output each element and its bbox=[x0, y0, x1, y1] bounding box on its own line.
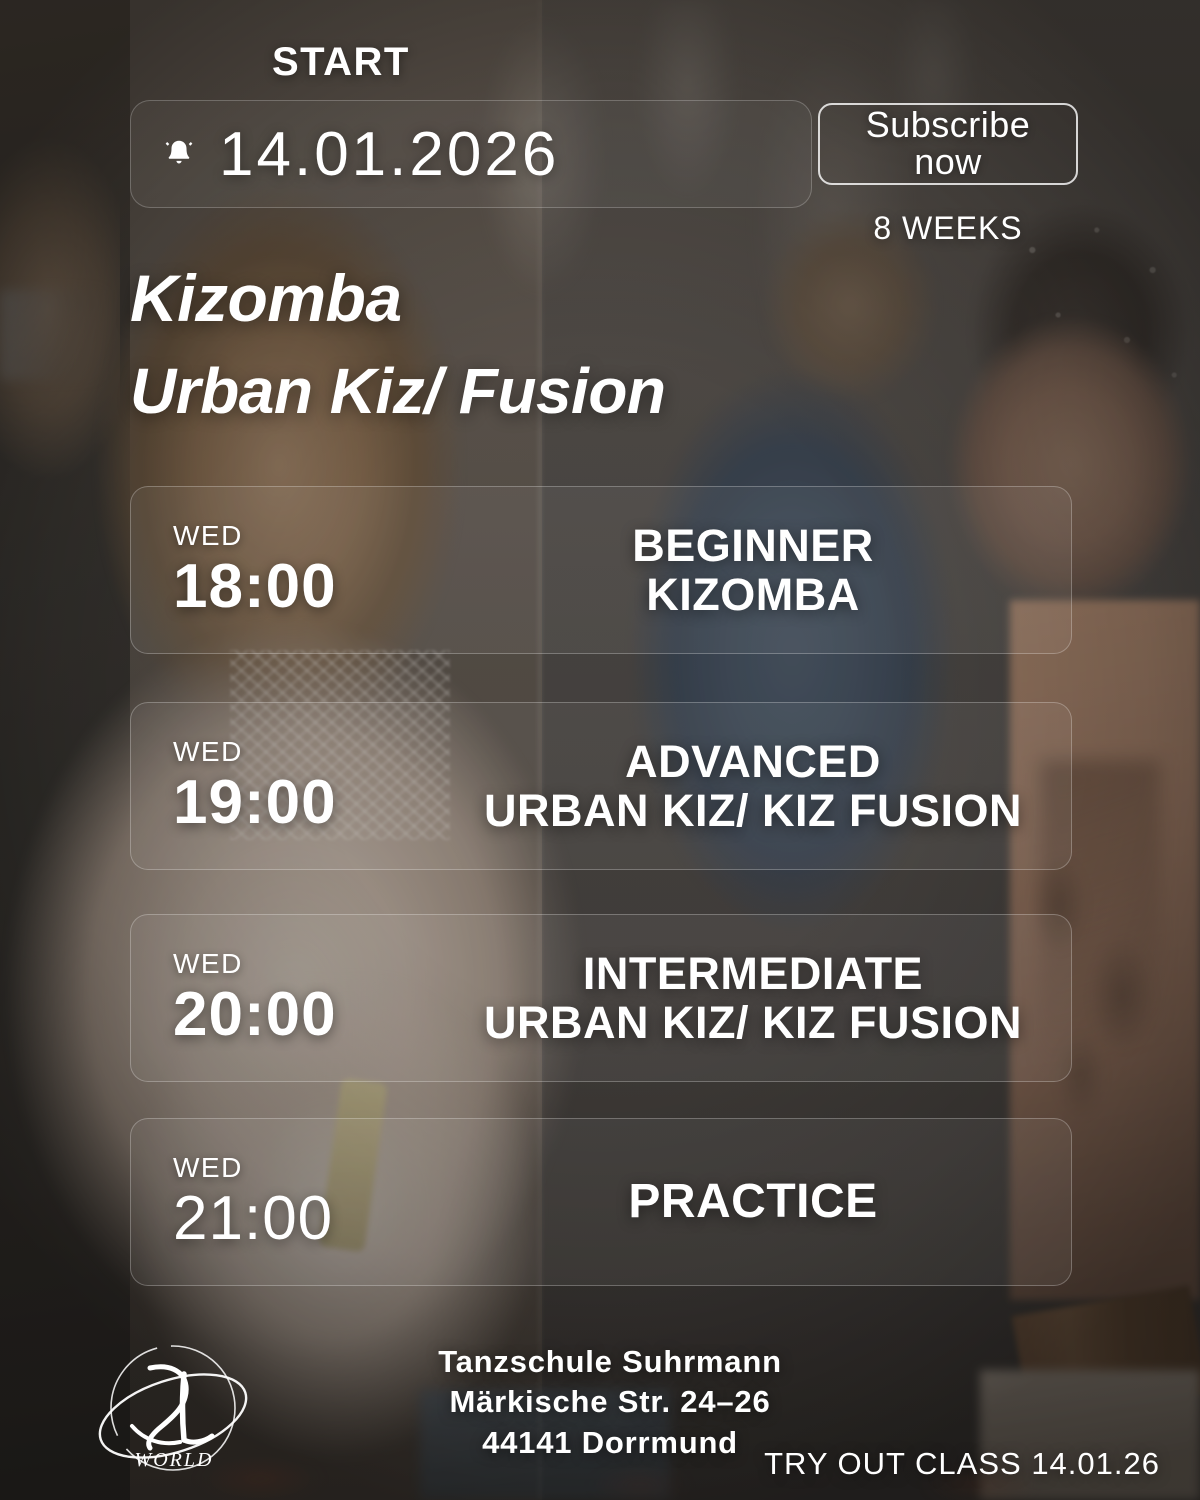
start-date-value: 14.01.2026 bbox=[219, 119, 559, 190]
schedule-card-1[interactable]: WED 18:00 BEGINNER KIZOMBA bbox=[130, 486, 1072, 654]
studio-name: Tanzschule Suhrmann bbox=[380, 1342, 840, 1382]
schedule-class-name: INTERMEDIATE URBAN KIZ/ KIZ FUSION bbox=[461, 949, 1071, 1048]
schedule-hour: 18:00 bbox=[173, 556, 461, 618]
schedule-class-name: BEGINNER KIZOMBA bbox=[461, 521, 1071, 620]
start-date-pill: 14.01.2026 bbox=[130, 100, 812, 208]
tryout-class-note: TRY OUT CLASS 14.01.26 bbox=[764, 1446, 1160, 1482]
bell-icon bbox=[159, 133, 199, 175]
subscribe-label-line1: Subscribe bbox=[866, 107, 1031, 144]
schedule-day: WED bbox=[173, 1154, 461, 1182]
poster-canvas: START 14.01.2026 Subscribe now 8 WEEKS K… bbox=[0, 0, 1200, 1500]
schedule-level: ADVANCED bbox=[461, 737, 1045, 787]
course-duration: 8 WEEKS bbox=[818, 210, 1078, 247]
headline-line-2: Urban Kiz/ Fusion bbox=[130, 346, 666, 437]
schedule-class-name: PRACTICE bbox=[461, 1176, 1071, 1229]
schedule-card-4[interactable]: WED 21:00 PRACTICE bbox=[130, 1118, 1072, 1286]
schedule-day: WED bbox=[173, 522, 461, 550]
schedule-card-3[interactable]: WED 20:00 INTERMEDIATE URBAN KIZ/ KIZ FU… bbox=[130, 914, 1072, 1082]
schedule-hour: 20:00 bbox=[173, 984, 461, 1046]
schedule-day: WED bbox=[173, 738, 461, 766]
schedule-time-block: WED 18:00 bbox=[131, 522, 461, 618]
schedule-hour: 19:00 bbox=[173, 772, 461, 834]
poster-content: START 14.01.2026 Subscribe now 8 WEEKS K… bbox=[0, 0, 1200, 1500]
schedule-level: INTERMEDIATE bbox=[461, 949, 1045, 999]
schedule-time-block: WED 20:00 bbox=[131, 950, 461, 1046]
schedule-class-name: ADVANCED URBAN KIZ/ KIZ FUSION bbox=[461, 737, 1071, 836]
schedule-time-block: WED 21:00 bbox=[131, 1154, 461, 1250]
logo-word: WORLD bbox=[135, 1449, 214, 1471]
schedule-day: WED bbox=[173, 950, 461, 978]
subscribe-now-button[interactable]: Subscribe now bbox=[818, 103, 1078, 185]
jl-world-logo: WORLD bbox=[88, 1330, 258, 1490]
studio-address: Tanzschule Suhrmann Märkische Str. 24–26… bbox=[380, 1342, 840, 1463]
start-label: START bbox=[272, 40, 410, 85]
schedule-level: BEGINNER bbox=[461, 521, 1045, 571]
schedule-style: URBAN KIZ/ KIZ FUSION bbox=[461, 998, 1045, 1048]
schedule-style: KIZOMBA bbox=[461, 570, 1045, 620]
schedule-card-2[interactable]: WED 19:00 ADVANCED URBAN KIZ/ KIZ FUSION bbox=[130, 702, 1072, 870]
schedule-hour: 21:00 bbox=[173, 1188, 461, 1250]
subscribe-label-line2: now bbox=[914, 144, 982, 181]
schedule-style: URBAN KIZ/ KIZ FUSION bbox=[461, 786, 1045, 836]
page-title: Kizomba Urban Kiz/ Fusion bbox=[130, 252, 666, 437]
studio-street: Märkische Str. 24–26 bbox=[380, 1382, 840, 1422]
schedule-level: PRACTICE bbox=[461, 1176, 1045, 1229]
headline-line-1: Kizomba bbox=[130, 252, 666, 346]
schedule-time-block: WED 19:00 bbox=[131, 738, 461, 834]
